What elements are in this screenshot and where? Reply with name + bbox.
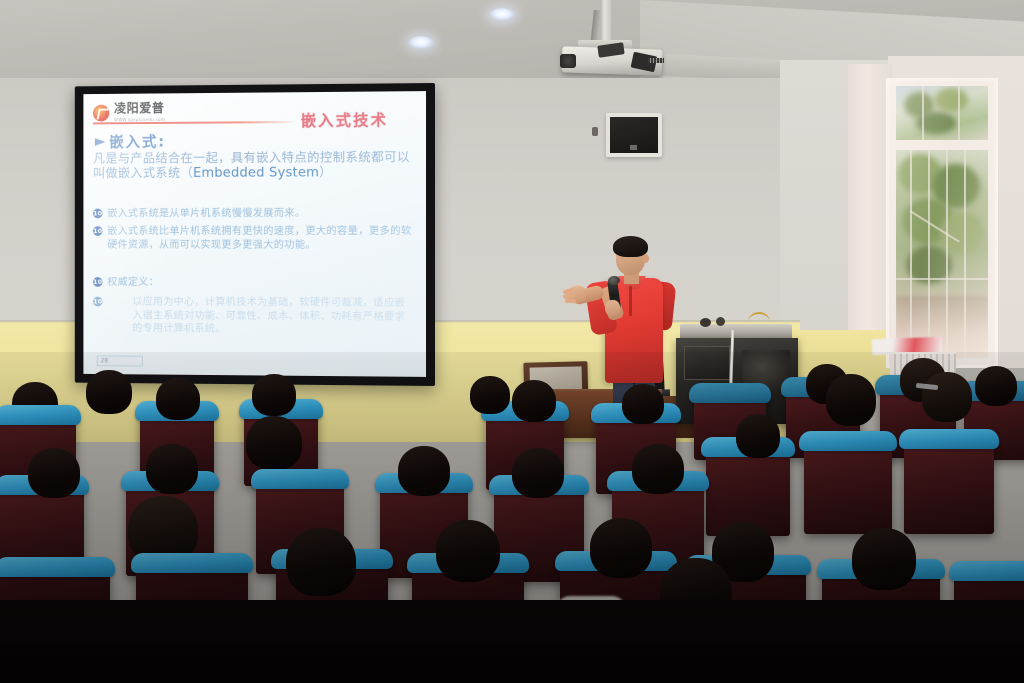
audience-head [622, 384, 664, 424]
audience-head [398, 446, 450, 496]
audience-head [28, 448, 80, 498]
paragraph-en-text: Embedded System [193, 166, 319, 181]
window-bar [896, 278, 988, 280]
audience-head [470, 376, 510, 414]
audience-head [512, 448, 564, 498]
logo-brand-text: 凌阳爱普 [114, 103, 165, 116]
audience-head [590, 518, 652, 578]
presenter-ear [643, 254, 649, 263]
window-bar [922, 86, 924, 140]
arrow-bullet-icon [95, 138, 106, 146]
slide-paragraph: 凡是与产品结合在一起，具有嵌入特点的控制系统都可以叫做嵌入式系统（Embedde… [93, 149, 411, 183]
bullet-text: 嵌入式系统比单片机系统拥有更快的速度，更大的容量，更多的软硬件资源，从而可以实现… [107, 225, 415, 252]
projection-screen-frame: 凌阳爱普 WWW.sunplusedu.com 嵌入式技术 嵌入式: 凡是与产品… [75, 83, 435, 386]
slide-bullet: 10 以应用为中心，计算机技术为基础，软硬件可裁减，适应嵌入宿主系统对功能、可靠… [93, 296, 415, 338]
finger-icon [565, 299, 576, 303]
window-bar [958, 86, 960, 140]
rack-knob-icon [700, 318, 711, 327]
window-transom [896, 86, 988, 140]
projector-pole [600, 0, 611, 44]
seat [804, 438, 892, 534]
audience-head [156, 378, 200, 420]
projection-screen: 凌阳爱普 WWW.sunplusedu.com 嵌入式技术 嵌入式: 凡是与产品… [83, 91, 426, 377]
bullet-text: 权威定义： [107, 276, 159, 289]
window-bar [946, 150, 948, 358]
rack-knob-icon [716, 317, 725, 326]
slide-bullet: 10 嵌入式系统是从单片机系统慢慢发展而来。 [93, 207, 415, 221]
audience-head [146, 444, 198, 494]
window-main-pane [896, 150, 988, 358]
slide-bullet: 10 嵌入式系统比单片机系统拥有更快的速度，更大的容量，更多的软硬件资源，从而可… [93, 225, 415, 252]
bullet-marker-icon: 10 [93, 297, 103, 307]
audience-head [252, 374, 296, 416]
bullet-text: 以应用为中心，计算机技术为基础，软硬件可裁减，适应嵌入宿主系统对功能、可靠性、成… [107, 296, 415, 338]
slide-bullet: 10 权威定义： [93, 276, 415, 290]
presenter-right-hand [605, 300, 620, 316]
audience-head [512, 380, 556, 422]
bullet-text: 嵌入式系统是从单片机系统慢慢发展而来。 [107, 207, 305, 221]
foliage-icon [934, 88, 968, 112]
speaker-driver-icon [630, 145, 637, 150]
ceiling-light-1 [408, 36, 434, 49]
wall-knob-icon [592, 127, 598, 136]
bullet-marker-icon: 10 [93, 226, 103, 236]
projector-vent [648, 58, 664, 63]
lecture-hall-photo: 凌阳爱普 WWW.sunplusedu.com 嵌入式技术 嵌入式: 凡是与产品… [0, 0, 1024, 683]
floor [0, 600, 1024, 683]
projector-lens [560, 54, 576, 68]
sunplus-logo-icon [93, 104, 109, 121]
seat [904, 436, 994, 534]
bullet-marker-icon: 10 [93, 209, 103, 219]
audience-head [826, 374, 876, 426]
paragraph-tail-text: ） [319, 165, 332, 180]
presenter-hair [613, 236, 648, 257]
window [886, 78, 998, 368]
window-bar [928, 150, 930, 358]
window-bar [964, 150, 966, 358]
audience-head [736, 414, 780, 458]
slide-heading-row: 嵌入式: [95, 131, 166, 152]
slide-heading-text: 嵌入式: [109, 131, 166, 152]
audience-head [852, 528, 916, 590]
presentation-slide: 凌阳爱普 WWW.sunplusedu.com 嵌入式技术 嵌入式: 凡是与产品… [83, 91, 426, 377]
window-bar [910, 150, 912, 358]
audience-head [286, 528, 356, 596]
presenter-shirt-placket [629, 286, 632, 316]
audience-head [922, 372, 972, 422]
audience-head [86, 370, 132, 414]
audience-head [632, 444, 684, 494]
slide-title: 嵌入式技术 [301, 108, 388, 131]
bullet-marker-icon: 10 [93, 277, 103, 287]
audience-head [436, 520, 500, 582]
audience-head [246, 416, 302, 470]
ceiling-light-2 [489, 8, 515, 21]
audience-head [975, 366, 1017, 406]
